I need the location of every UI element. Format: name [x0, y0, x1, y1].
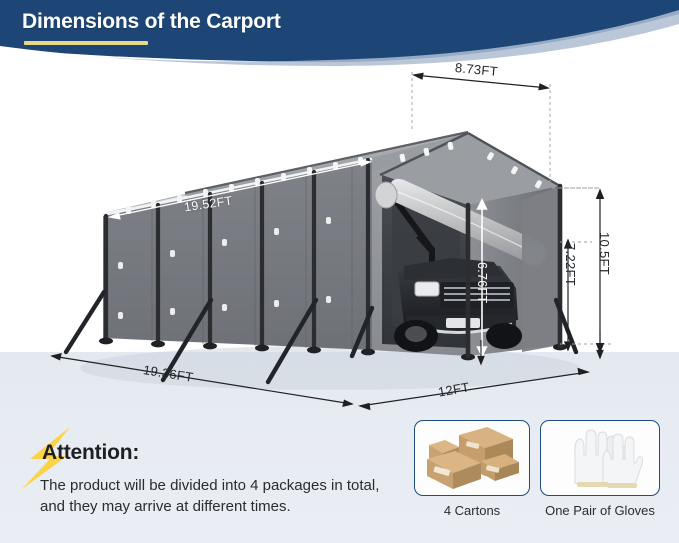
- cartons-card-caption: 4 Cartons: [414, 503, 530, 518]
- cartons-card: [414, 420, 530, 496]
- gloves-card-caption: One Pair of Gloves: [540, 503, 660, 518]
- dimension-label-peak-height: 10.5FT: [597, 232, 612, 275]
- gloves-card: [540, 420, 660, 496]
- infographic-canvas: Dimensions of the Carport: [0, 0, 679, 543]
- cardboard-boxes-icon: [415, 421, 529, 495]
- attention-text: The product will be divided into 4 packa…: [40, 476, 408, 517]
- dimension-label-door-opening-height: 6.76FT: [475, 262, 489, 303]
- attention-heading: Attention:: [42, 441, 139, 465]
- dimension-label-sidewall-height: 7.22FT: [563, 243, 578, 286]
- work-gloves-icon: [541, 421, 659, 495]
- carport-illustration: [0, 0, 679, 430]
